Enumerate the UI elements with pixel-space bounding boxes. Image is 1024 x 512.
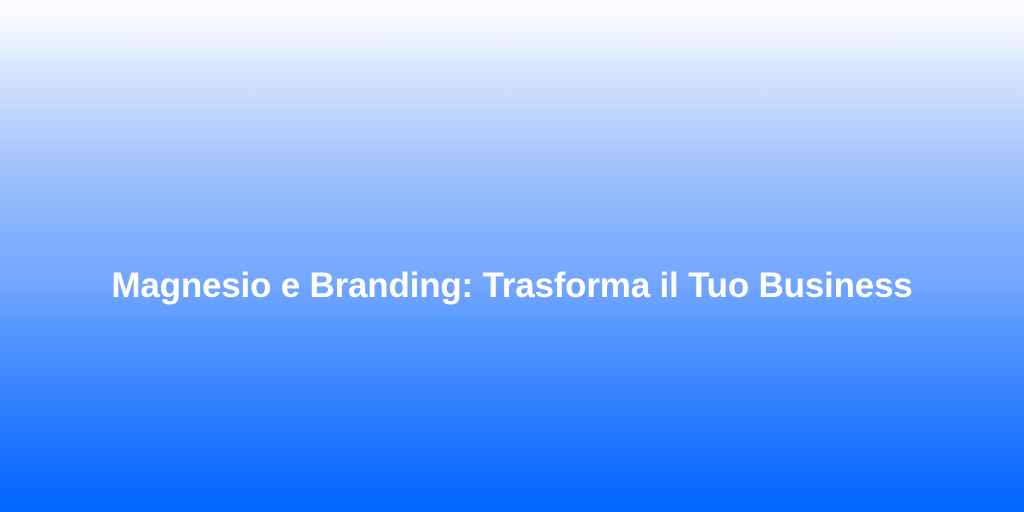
page-title: Magnesio e Branding: Trasforma il Tuo Bu… <box>111 264 912 308</box>
headline-container: Magnesio e Branding: Trasforma il Tuo Bu… <box>0 264 1024 308</box>
hero-banner: Magnesio e Branding: Trasforma il Tuo Bu… <box>0 0 1024 512</box>
